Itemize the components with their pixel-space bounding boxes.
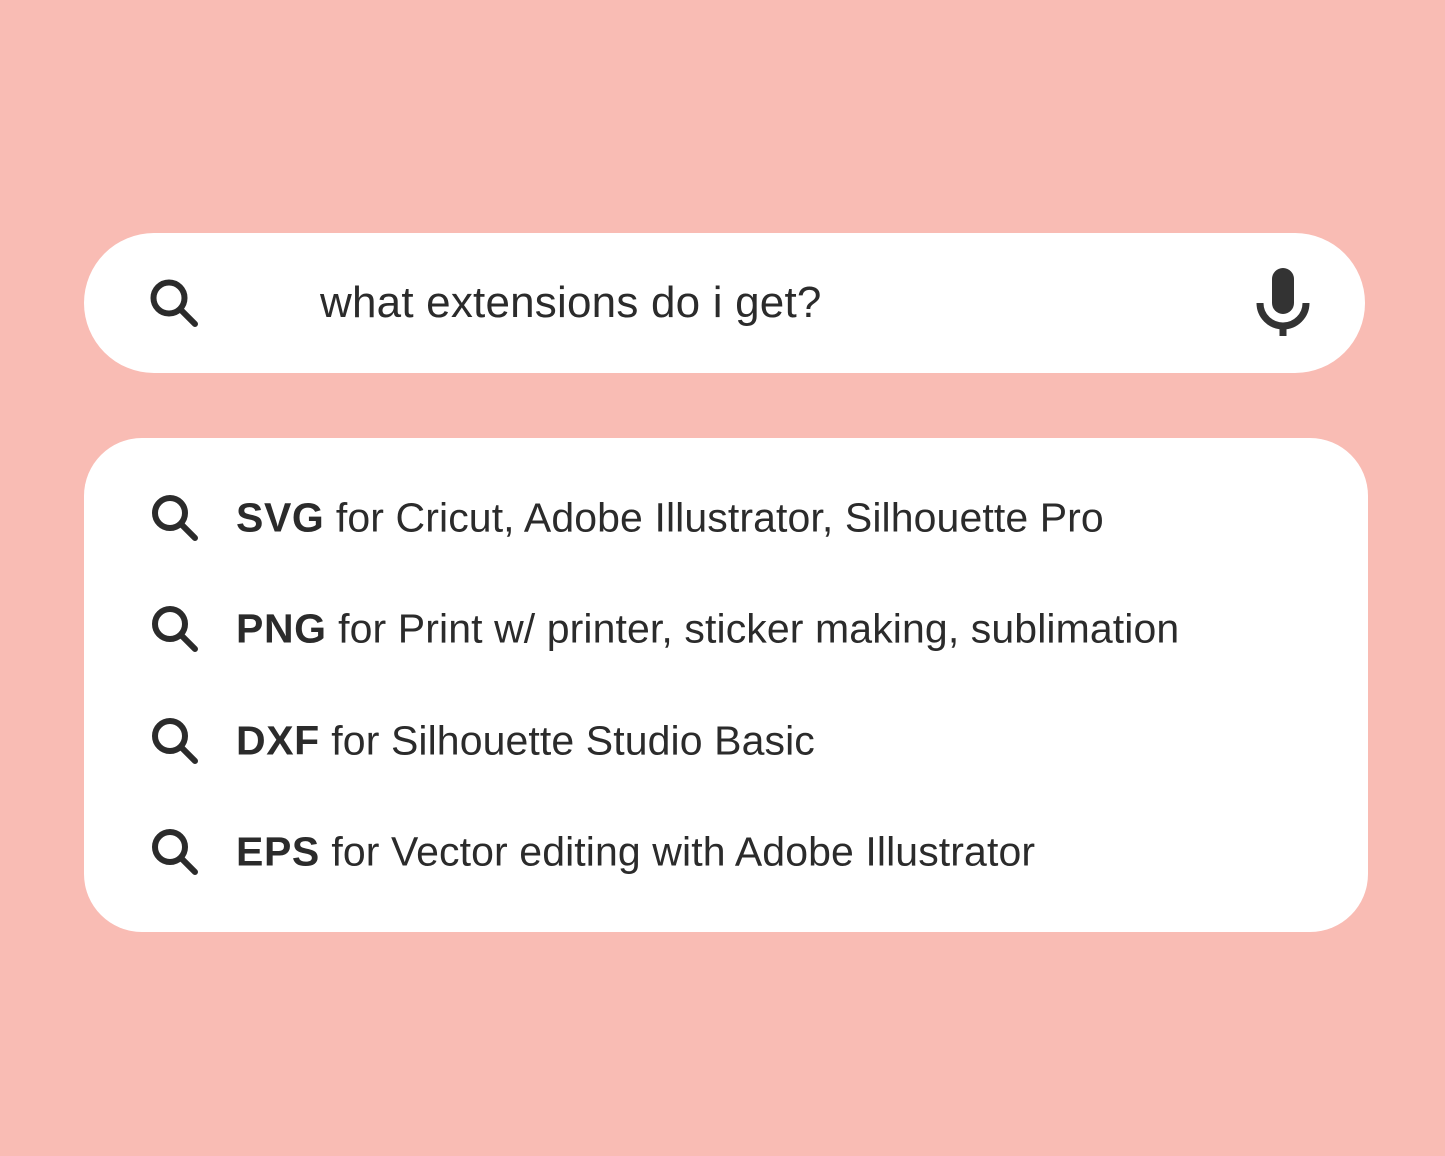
suggestions-card: SVG for Cricut, Adobe Illustrator, Silho… — [84, 438, 1368, 932]
microphone-icon[interactable] — [1253, 266, 1313, 340]
suggestion-description: for Vector editing with Adobe Illustrato… — [320, 829, 1035, 875]
suggestion-description: for Cricut, Adobe Illustrator, Silhouett… — [324, 495, 1103, 541]
suggestion-description: for Silhouette Studio Basic — [320, 718, 815, 764]
suggestion-extension: EPS — [236, 829, 320, 875]
search-icon — [150, 827, 200, 877]
suggestion-item-svg[interactable]: SVG for Cricut, Adobe Illustrator, Silho… — [84, 486, 1368, 550]
suggestion-label: PNG for Print w/ printer, sticker making… — [236, 606, 1179, 653]
suggestion-description: for Print w/ printer, sticker making, su… — [327, 606, 1180, 652]
suggestion-extension: DXF — [236, 718, 320, 764]
suggestion-extension: SVG — [236, 495, 324, 541]
search-icon — [150, 716, 200, 766]
search-input[interactable]: what extensions do i get? — [320, 278, 822, 328]
suggestion-item-eps[interactable]: EPS for Vector editing with Adobe Illust… — [84, 820, 1368, 884]
search-icon — [148, 277, 200, 329]
suggestion-label: EPS for Vector editing with Adobe Illust… — [236, 829, 1035, 876]
suggestion-label: SVG for Cricut, Adobe Illustrator, Silho… — [236, 495, 1104, 542]
suggestion-extension: PNG — [236, 606, 327, 652]
suggestion-item-dxf[interactable]: DXF for Silhouette Studio Basic — [84, 709, 1368, 773]
search-icon — [150, 493, 200, 543]
suggestion-label: DXF for Silhouette Studio Basic — [236, 718, 815, 765]
search-icon — [150, 604, 200, 654]
suggestion-item-png[interactable]: PNG for Print w/ printer, sticker making… — [84, 597, 1368, 661]
search-bar[interactable]: what extensions do i get? — [84, 233, 1365, 373]
